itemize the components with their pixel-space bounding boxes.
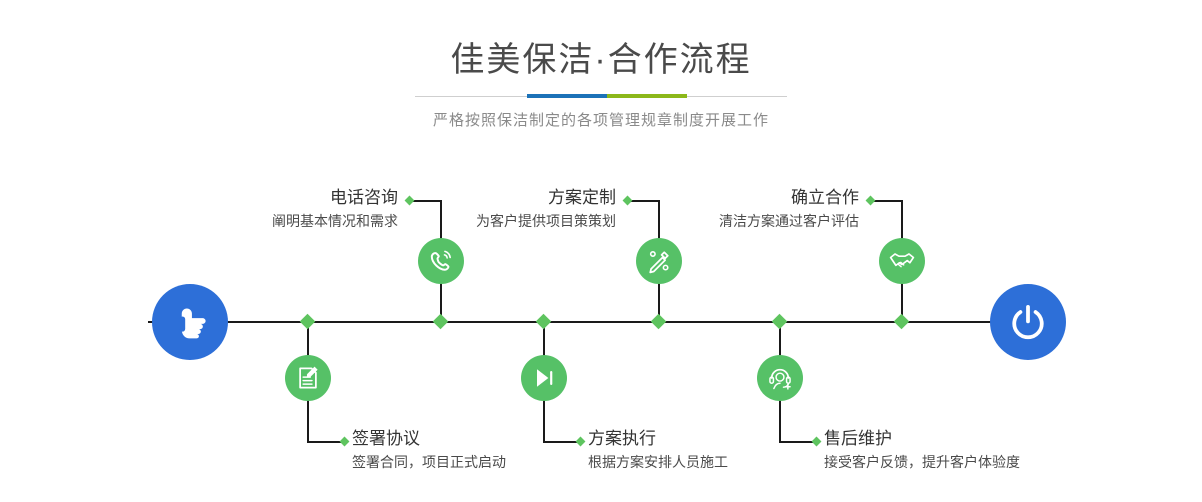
axis-diamond-step-4 bbox=[536, 314, 552, 330]
step-title-6: 售后维护 bbox=[824, 427, 1184, 451]
divider-segment-blue bbox=[527, 94, 607, 98]
axis-diamond-step-6 bbox=[772, 314, 788, 330]
pencil-ruler-icon bbox=[645, 247, 673, 275]
step-title-5: 确立合作 bbox=[560, 186, 859, 210]
step-node-6[interactable] bbox=[757, 355, 803, 401]
step-label-6: 售后维护 接受客户反馈，提升客户体验度 bbox=[824, 427, 1184, 473]
page-title: 佳美保洁·合作流程 bbox=[0, 38, 1202, 82]
flow-diagram-page: 佳美保洁·合作流程 严格按照保洁制定的各项管理规章制度开展工作 bbox=[0, 0, 1202, 502]
timeline-end-node bbox=[990, 284, 1066, 360]
step-node-3[interactable] bbox=[636, 238, 682, 284]
connector-hline-step-2 bbox=[307, 441, 343, 443]
timeline-axis bbox=[148, 321, 1056, 323]
step-node-5[interactable] bbox=[879, 238, 925, 284]
label-diamond-step-2 bbox=[340, 437, 350, 447]
timeline-start-node bbox=[152, 284, 228, 360]
step-node-4[interactable] bbox=[521, 355, 567, 401]
play-execute-icon bbox=[530, 364, 558, 392]
axis-diamond-step-5 bbox=[894, 314, 910, 330]
connector-hline-step-6 bbox=[779, 441, 815, 443]
step-node-2[interactable] bbox=[285, 355, 331, 401]
step-desc-6: 接受客户反馈，提升客户体验度 bbox=[824, 451, 1184, 473]
step-desc-5: 清洁方案通过客户评估 bbox=[560, 210, 859, 232]
headset-support-icon bbox=[766, 364, 794, 392]
axis-diamond-step-1 bbox=[433, 314, 449, 330]
axis-diamond-step-2 bbox=[300, 314, 316, 330]
page-subtitle: 严格按照保洁制定的各项管理规章制度开展工作 bbox=[0, 110, 1202, 132]
page-header: 佳美保洁·合作流程 严格按照保洁制定的各项管理规章制度开展工作 bbox=[0, 0, 1202, 132]
divider-segment-green bbox=[607, 94, 687, 98]
phone-ringing-icon bbox=[427, 247, 455, 275]
document-edit-icon bbox=[294, 364, 322, 392]
connector-hline-step-4 bbox=[543, 441, 579, 443]
pointing-hand-icon bbox=[168, 300, 212, 344]
step-node-1[interactable] bbox=[418, 238, 464, 284]
handshake-icon bbox=[888, 247, 916, 275]
step-label-5: 确立合作 清洁方案通过客户评估 bbox=[560, 186, 859, 232]
axis-diamond-step-3 bbox=[651, 314, 667, 330]
title-divider bbox=[415, 94, 787, 99]
power-button-icon bbox=[1006, 300, 1050, 344]
label-diamond-step-5 bbox=[866, 196, 876, 206]
